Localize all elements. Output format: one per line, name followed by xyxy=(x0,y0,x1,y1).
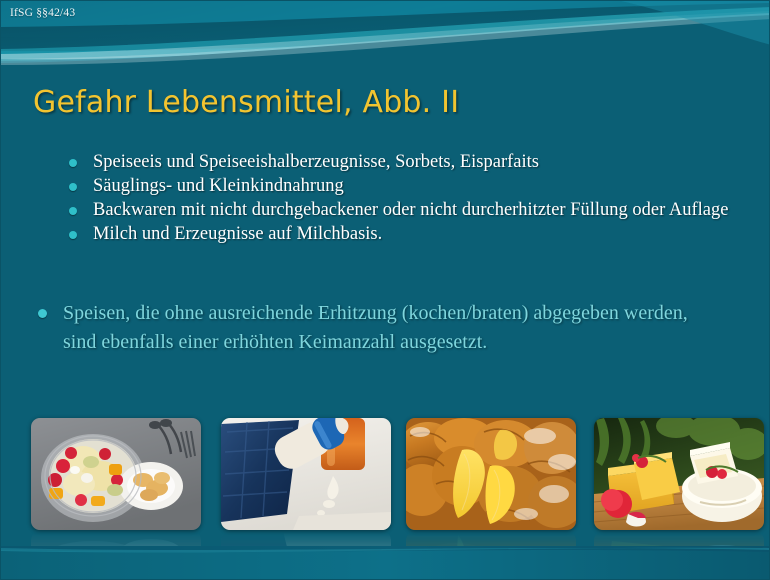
bullet-dot-icon xyxy=(69,159,77,167)
footer-decoration-band: © Achim Blaha QSH Für Küchen 8 xyxy=(1,546,770,580)
photo-cheese-selection xyxy=(594,418,764,530)
photo-baked-pastries xyxy=(406,418,576,530)
list-item: Säuglings- und Kleinkindnahrung xyxy=(64,175,744,198)
bullet-dot-icon xyxy=(69,183,77,191)
page-title: Gefahr Lebensmittel, Abb. II xyxy=(33,85,459,120)
secondary-note-text: Speisen, die ohne ausreichende Erhitzung… xyxy=(33,299,713,357)
photo-strip: blog xyxy=(1,418,770,546)
photo-baked-pastries-art xyxy=(406,418,576,530)
photo-ice-cream-dessert xyxy=(31,418,201,530)
list-item-label: Milch und Erzeugnisse auf Milchbasis. xyxy=(93,223,744,246)
bullet-dot-icon xyxy=(69,231,77,239)
list-item: Speiseeis und Speiseeishalberzeugnisse, … xyxy=(64,151,744,174)
list-item-label: Backwaren mit nicht durchgebackener oder… xyxy=(93,199,744,222)
header-wave-graphic xyxy=(1,1,770,83)
bullet-dot-icon xyxy=(38,309,47,318)
list-item-label: Säuglings- und Kleinkindnahrung xyxy=(93,175,744,198)
header-decoration-band: IfSG §§42/43 xyxy=(1,1,770,83)
bullet-dot-icon xyxy=(69,207,77,215)
photo-ice-cream-dessert-art xyxy=(31,418,201,530)
header-regulation-label: IfSG §§42/43 xyxy=(10,7,75,19)
food-risk-bullet-list: Speiseeis und Speiseeishalberzeugnisse, … xyxy=(64,151,744,247)
list-item-label: Speiseeis und Speiseeishalberzeugnisse, … xyxy=(93,151,744,174)
list-item: Milch und Erzeugnisse auf Milchbasis. xyxy=(64,223,744,246)
footer-wave-graphic xyxy=(1,546,770,580)
photo-cheese-selection-art xyxy=(594,418,764,530)
presentation-slide: IfSG §§42/43 Gefahr Lebensmittel, Abb. I… xyxy=(0,0,770,580)
list-item: Backwaren mit nicht durchgebackener oder… xyxy=(64,199,744,222)
photo-baby-bottle-milk-art xyxy=(221,418,391,530)
secondary-note-block: Speisen, die ohne ausreichende Erhitzung… xyxy=(33,299,713,357)
photo-baby-bottle-milk xyxy=(221,418,391,530)
